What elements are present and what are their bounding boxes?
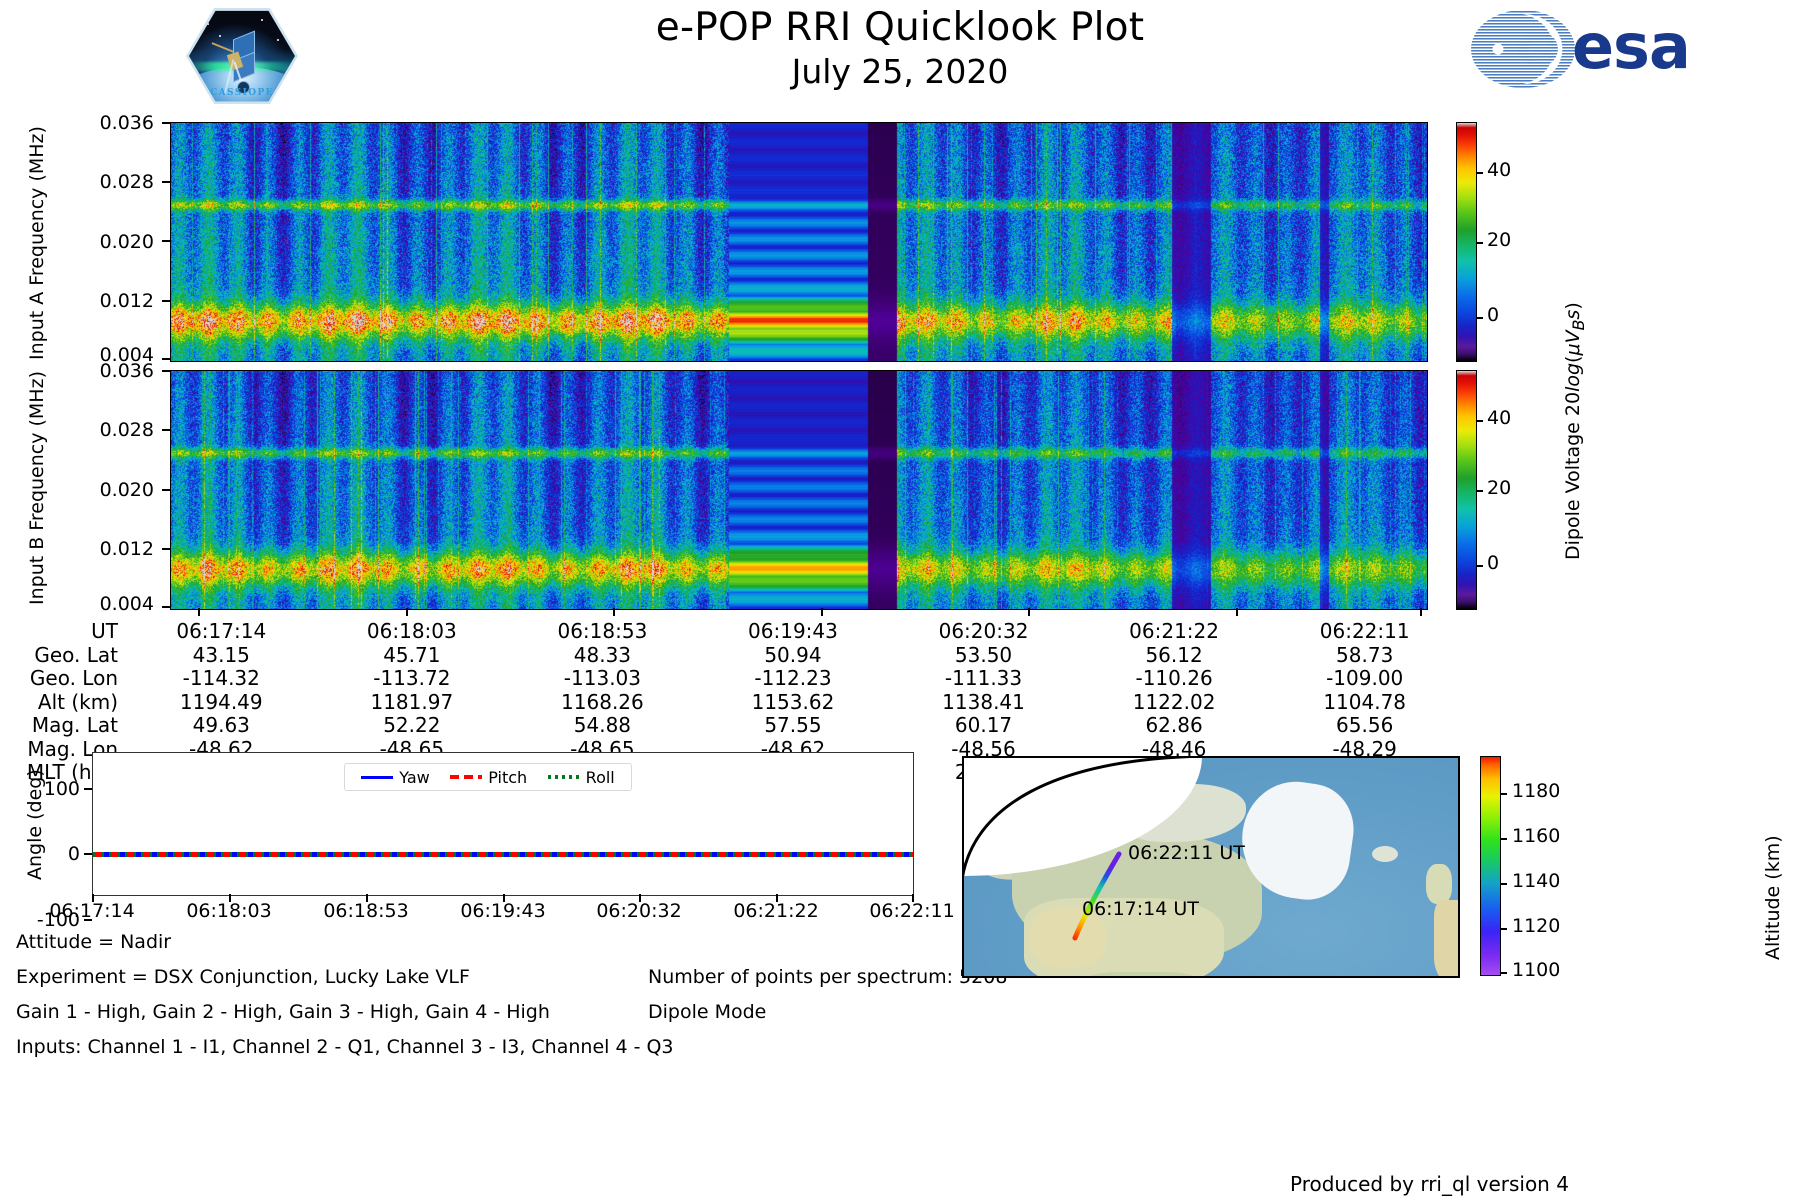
orbit-track <box>964 758 1458 976</box>
input-b-colorbar <box>1456 370 1477 610</box>
cell-r1-c5: 56.12 <box>1079 644 1270 668</box>
input-b-ylabel: Input B Frequency (MHz) <box>26 371 48 605</box>
cell-r0-c0: 06:17:14 <box>126 620 317 644</box>
attitude-xtick-1: 06:18:03 <box>169 900 289 922</box>
input-b-spectrogram <box>170 370 1428 610</box>
input-b-ytick-4: 0.004 <box>50 593 154 615</box>
altitude-cbar-tick-2: 1140 <box>1512 870 1560 892</box>
cassiope-wordmark: CASSIOPE <box>189 88 295 98</box>
input-a-ylabel: Input A Frequency (MHz) <box>26 126 48 360</box>
input-a-ytick-0: 0.036 <box>50 112 154 134</box>
hex-artwork: CASSIOPE <box>189 9 295 103</box>
attitude-xtick-0: 06:17:14 <box>32 900 152 922</box>
cell-r3-c1: 1181.97 <box>317 691 508 715</box>
attitude-legend: Yaw Pitch Roll <box>344 763 632 791</box>
table-row: UT06:17:1406:18:0306:18:5306:19:4306:20:… <box>0 620 1460 644</box>
legend-item-roll: Roll <box>548 768 615 787</box>
cell-r2-c2: -113.03 <box>507 667 698 691</box>
attitude-xtick-5: 06:21:22 <box>716 900 836 922</box>
altitude-colorbar <box>1480 756 1501 976</box>
cell-r1-c3: 50.94 <box>698 644 889 668</box>
attitude-xtick-4: 06:20:32 <box>579 900 699 922</box>
cell-r1-c2: 48.33 <box>507 644 698 668</box>
cell-r4-c3: 57.55 <box>698 714 889 738</box>
altitude-cbar-tick-1: 1160 <box>1512 825 1560 847</box>
cell-r4-c1: 52.22 <box>317 714 508 738</box>
cell-r2-c6: -109.00 <box>1269 667 1460 691</box>
pitch-line-swatch <box>450 775 482 779</box>
input-a-cbar-tick-1: 20 <box>1487 229 1511 251</box>
cell-r3-c0: 1194.49 <box>126 691 317 715</box>
altitude-colorbar-label: Altitude (km) <box>1762 835 1784 960</box>
cell-r0-c3: 06:19:43 <box>698 620 889 644</box>
cell-r1-c1: 45.71 <box>317 644 508 668</box>
cell-r1-c4: 53.50 <box>888 644 1079 668</box>
cell-r1-c0: 43.15 <box>126 644 317 668</box>
attitude-xtick-6: 06:22:11 <box>852 900 972 922</box>
cassiope-logo: CASSIOPE <box>186 6 298 106</box>
cell-r4-c0: 49.63 <box>126 714 317 738</box>
input-a-ytick-2: 0.020 <box>50 231 154 253</box>
legend-item-yaw: Yaw <box>361 768 429 787</box>
cell-r3-c4: 1138.41 <box>888 691 1079 715</box>
attitude-ytick-0: 100 <box>0 778 80 800</box>
legend-label-pitch: Pitch <box>488 768 527 787</box>
altitude-cbar-tick-0: 1180 <box>1512 780 1560 802</box>
altitude-cbar-tick-3: 1120 <box>1512 915 1560 937</box>
footer-experiment: Experiment = DSX Conjunction, Lucky Lake… <box>16 966 470 988</box>
cell-r4-c6: 65.56 <box>1269 714 1460 738</box>
yaw-line-swatch <box>361 776 393 779</box>
input-a-colorbar <box>1456 122 1477 362</box>
legend-item-pitch: Pitch <box>450 768 527 787</box>
map-start-time-label: 06:17:14 UT <box>1082 898 1199 920</box>
cell-r4-c2: 54.88 <box>507 714 698 738</box>
cell-r2-c0: -114.32 <box>126 667 317 691</box>
cell-r2-c3: -112.23 <box>698 667 889 691</box>
input-b-cbar-tick-2: 0 <box>1487 552 1499 574</box>
esa-swirl-icon <box>1468 8 1578 90</box>
input-a-spectrogram-canvas <box>171 123 1427 361</box>
orbit-ground-track-map: 06:22:11 UT 06:17:14 UT <box>962 756 1460 978</box>
altitude-cbar-tick-4: 1100 <box>1512 959 1560 981</box>
attitude-xtick-2: 06:18:53 <box>306 900 426 922</box>
cell-r0-c6: 06:22:11 <box>1269 620 1460 644</box>
legend-label-roll: Roll <box>586 768 615 787</box>
row-label-1: Geo. Lat <box>0 644 126 668</box>
cell-r2-c5: -110.26 <box>1079 667 1270 691</box>
cell-r1-c6: 58.73 <box>1269 644 1460 668</box>
table-row: Alt (km)1194.491181.971168.261153.621138… <box>0 691 1460 715</box>
row-label-4: Mag. Lat <box>0 714 126 738</box>
input-b-ytick-1: 0.028 <box>50 419 154 441</box>
input-b-spectrogram-canvas <box>171 371 1427 609</box>
cell-r0-c4: 06:20:32 <box>888 620 1079 644</box>
roll-series-line <box>93 852 913 857</box>
attitude-xtick-3: 06:19:43 <box>443 900 563 922</box>
input-b-ytick-0: 0.036 <box>50 360 154 382</box>
cell-r2-c1: -113.72 <box>317 667 508 691</box>
footer-attitude: Attitude = Nadir <box>16 931 171 953</box>
page-subtitle: July 25, 2020 <box>420 51 1380 93</box>
dipole-voltage-colorbar-label: Dipole Voltage 20log(μVBs) <box>1562 302 1588 560</box>
cell-r2-c4: -111.33 <box>888 667 1079 691</box>
esa-logo: esa <box>1468 8 1788 94</box>
input-b-cbar-tick-1: 20 <box>1487 477 1511 499</box>
input-a-spectrogram <box>170 122 1428 362</box>
table-row: Geo. Lat43.1545.7148.3350.9453.5056.1258… <box>0 644 1460 668</box>
table-row: Geo. Lon-114.32-113.72-113.03-112.23-111… <box>0 667 1460 691</box>
table-row: Mag. Lat49.6352.2254.8857.5560.1762.8665… <box>0 714 1460 738</box>
row-label-2: Geo. Lon <box>0 667 126 691</box>
input-a-cbar-tick-2: 0 <box>1487 304 1499 326</box>
map-end-time-label: 06:22:11 UT <box>1128 842 1245 864</box>
row-label-0: UT <box>0 620 126 644</box>
roll-line-swatch <box>548 775 580 779</box>
input-b-ytick-3: 0.012 <box>50 538 154 560</box>
cell-r3-c2: 1168.26 <box>507 691 698 715</box>
cell-r4-c5: 62.86 <box>1079 714 1270 738</box>
title-block: e-POP RRI Quicklook Plot July 25, 2020 <box>420 4 1380 93</box>
cell-r0-c2: 06:18:53 <box>507 620 698 644</box>
cell-r0-c5: 06:21:22 <box>1079 620 1270 644</box>
cell-r3-c6: 1104.78 <box>1269 691 1460 715</box>
footer-dipole-mode: Dipole Mode <box>648 1001 766 1023</box>
input-a-ytick-3: 0.012 <box>50 290 154 312</box>
cell-r3-c3: 1153.62 <box>698 691 889 715</box>
page-title: e-POP RRI Quicklook Plot <box>420 4 1380 51</box>
footer-points-per-spectrum: Number of points per spectrum: 5208 <box>648 966 1007 988</box>
cell-r3-c5: 1122.02 <box>1079 691 1270 715</box>
input-b-ytick-2: 0.020 <box>50 479 154 501</box>
cell-r4-c4: 60.17 <box>888 714 1079 738</box>
legend-label-yaw: Yaw <box>399 768 429 787</box>
input-a-ytick-1: 0.028 <box>50 171 154 193</box>
footer-gain: Gain 1 - High, Gain 2 - High, Gain 3 - H… <box>16 1001 550 1023</box>
input-b-cbar-tick-0: 40 <box>1487 407 1511 429</box>
esa-wordmark: esa <box>1572 16 1690 78</box>
produced-by-label: Produced by rri_ql version 4 <box>1290 1172 1569 1196</box>
row-label-3: Alt (km) <box>0 691 126 715</box>
cell-r0-c1: 06:18:03 <box>317 620 508 644</box>
footer-inputs: Inputs: Channel 1 - I1, Channel 2 - Q1, … <box>16 1036 674 1058</box>
attitude-ytick-1: 0 <box>0 843 80 865</box>
input-a-cbar-tick-0: 40 <box>1487 159 1511 181</box>
